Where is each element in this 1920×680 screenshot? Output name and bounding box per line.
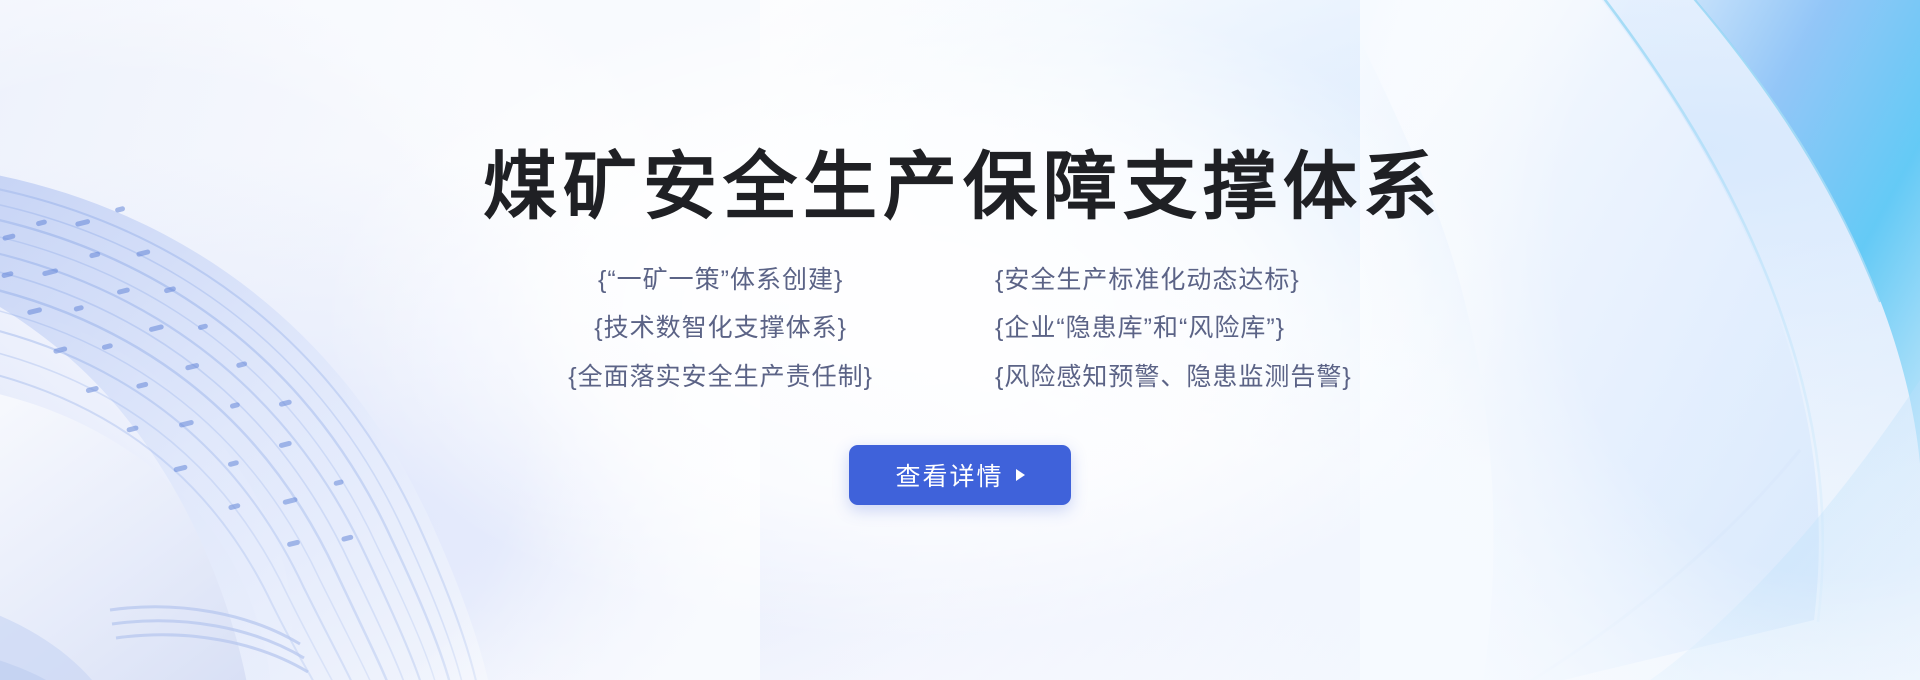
- page-title: 煤矿安全生产保障支撑体系: [477, 150, 1443, 224]
- view-details-button[interactable]: 查看详情: [849, 445, 1071, 505]
- feature-item: {安全生产标准化动态达标}: [995, 262, 1352, 298]
- feature-column-left: {“一矿一策”体系创建} {技术数智化支撑体系} {全面落实安全生产责任制}: [568, 262, 873, 395]
- feature-column-right: {安全生产标准化动态达标} {企业“隐患库”和“风险库”} {风险感知预警、隐患…: [995, 262, 1352, 395]
- hero-banner: 煤矿安全生产保障支撑体系 {“一矿一策”体系创建} {技术数智化支撑体系} {全…: [0, 0, 1920, 680]
- play-triangle-icon: [1016, 469, 1025, 481]
- feature-list: {“一矿一策”体系创建} {技术数智化支撑体系} {全面落实安全生产责任制} {…: [568, 262, 1351, 395]
- feature-item: {企业“隐患库”和“风险库”}: [995, 310, 1352, 346]
- feature-item: {“一矿一策”体系创建}: [568, 262, 873, 298]
- banner-content: 煤矿安全生产保障支撑体系 {“一矿一策”体系创建} {技术数智化支撑体系} {全…: [0, 0, 1920, 680]
- feature-item: {技术数智化支撑体系}: [568, 310, 873, 346]
- view-details-label: 查看详情: [895, 457, 1003, 493]
- feature-item: {风险感知预警、隐患监测告警}: [995, 359, 1352, 395]
- feature-item: {全面落实安全生产责任制}: [568, 359, 873, 395]
